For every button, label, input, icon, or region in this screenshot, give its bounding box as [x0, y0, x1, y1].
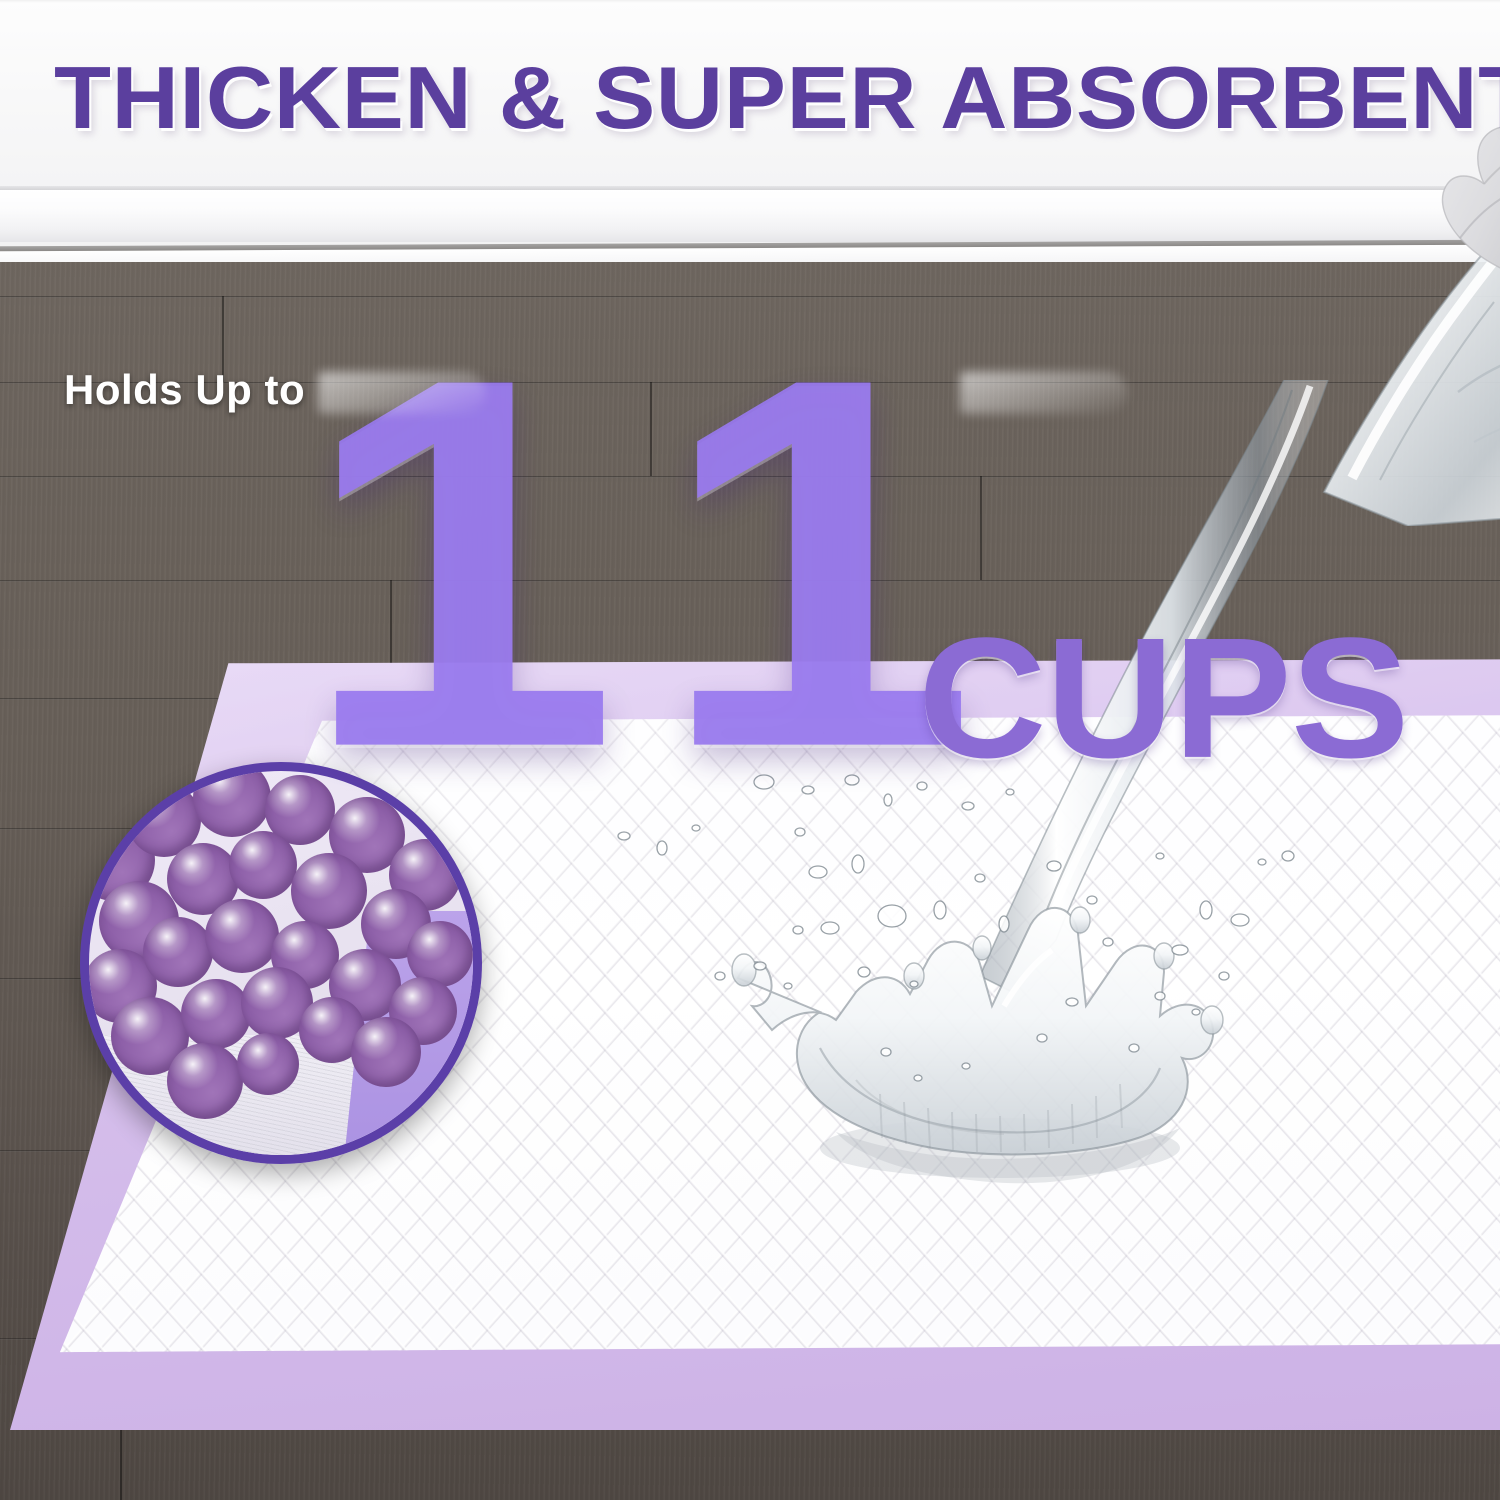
product-marketing-image: 11 CUPS Holds Up to THICKEN & SUPER ABSO…	[0, 0, 1500, 1500]
page-title: THICKEN & SUPER ABSORBENT	[54, 54, 1500, 142]
gel-bead	[351, 1017, 421, 1087]
gel-bead	[143, 917, 213, 987]
gel-bead	[291, 853, 367, 929]
claim-unit: CUPS	[918, 612, 1409, 783]
gel-bead	[167, 1043, 243, 1119]
baseboard	[0, 190, 1500, 242]
wall-seam	[0, 0, 1500, 3]
gel-bead	[229, 831, 297, 899]
gel-bead	[181, 979, 251, 1049]
gel-bead	[205, 899, 279, 973]
claim-prefix-label: Holds Up to	[64, 366, 305, 414]
gel-bead	[193, 762, 271, 837]
gel-bead	[237, 1033, 299, 1095]
